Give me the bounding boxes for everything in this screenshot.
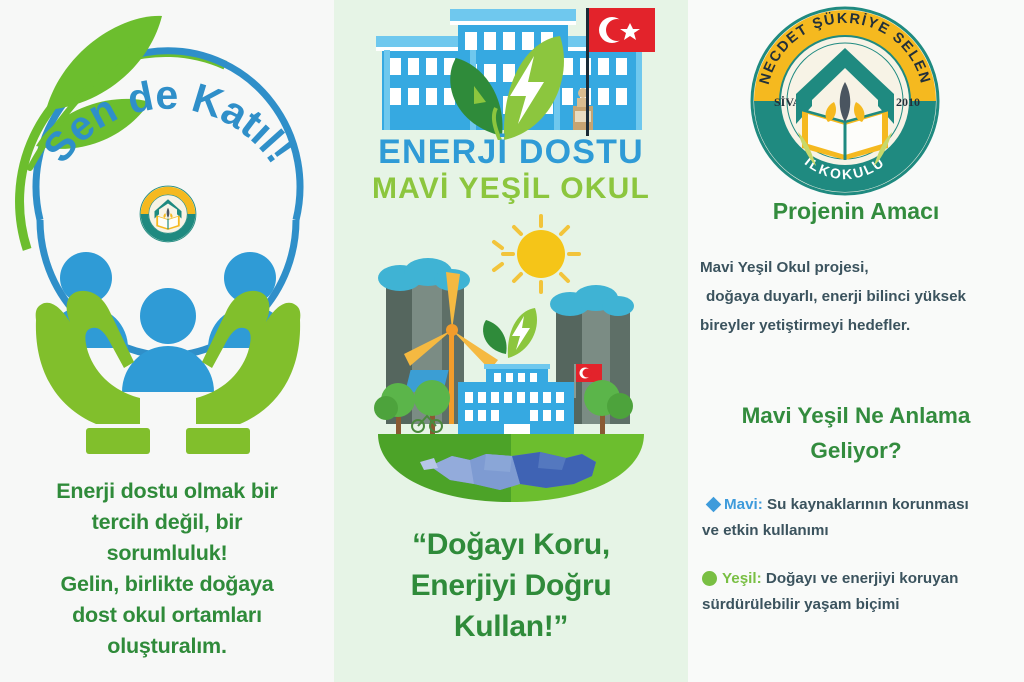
body-line: doğaya duyarlı, enerji bilinci yüksek <box>700 282 1018 311</box>
section-heading-line: Mavi Yeşil Ne Anlama <box>688 398 1024 433</box>
left-panel: Sen de Katıl! <box>0 0 334 682</box>
bullet-keyword: Yeşil <box>722 570 757 587</box>
brochure-page: Sen de Katıl! <box>0 0 1024 682</box>
bullet-text: Doğayı ve enerjiyi koruyan <box>762 570 959 587</box>
left-caption-line: dost okul ortamları <box>0 600 334 631</box>
left-caption: Enerji dostu olmak bir tercih değil, bir… <box>0 476 334 662</box>
left-caption-line: tercih değil, bir <box>0 507 334 538</box>
left-caption-line: sorumluluk! <box>0 538 334 569</box>
school-hero-illustration <box>334 0 688 136</box>
left-caption-line: oluşturalım. <box>0 631 334 662</box>
bullet-text: ve etkin kullanımı <box>702 518 1022 544</box>
bullet-keyword: Mavi <box>724 496 758 513</box>
school-crest-icon <box>140 186 196 242</box>
left-caption-line: Gelin, birlikte doğaya <box>0 569 334 600</box>
school-crest-icon: NECDET ŞÜKRİYE SELEN İLKOKULU SİVAS 2010 <box>688 0 1024 190</box>
section-heading-line: Geliyor? <box>688 433 1024 468</box>
sun-icon <box>494 216 579 292</box>
circle-bullet-icon <box>702 571 717 586</box>
diamond-bullet-icon <box>706 497 722 513</box>
leaf-lightning-icon <box>483 308 537 358</box>
body-line: bireyler yetiştirmeyi hedefler. <box>700 317 910 334</box>
right-panel: NECDET ŞÜKRİYE SELEN İLKOKULU SİVAS 2010 <box>688 0 1024 682</box>
middle-quote-line: “Doğayı Koru, <box>334 524 688 565</box>
bullet-text: Su kaynaklarının korunması <box>763 496 969 513</box>
middle-title: ENERJİ DOSTU <box>334 133 688 172</box>
list-item: Yeşil: Doğayı ve enerjiyi koruyan sürdür… <box>702 566 1022 618</box>
eco-city-illustration <box>334 212 688 502</box>
middle-subtitle: MAVİ YEŞİL OKUL <box>334 172 688 206</box>
middle-quote-line: Enerjiyi Doğru <box>334 565 688 606</box>
bullet-text: sürdürülebilir yaşam biçimi <box>702 592 1022 618</box>
page-title: Projenin Amacı <box>688 198 1024 225</box>
bullet-first-line: Yeşil: Doğayı ve enerjiyi koruyan <box>702 566 1022 592</box>
join-us-emblem: Sen de Katıl! <box>0 0 334 460</box>
section-heading: Mavi Yeşil Ne Anlama Geliyor? <box>688 398 1024 468</box>
bullet-first-line: Mavi: Su kaynaklarının korunması <box>702 492 1022 518</box>
body-line: Mavi Yeşil Okul projesi, <box>700 259 869 276</box>
middle-quote: “Doğayı Koru, Enerjiyi Doğru Kullan!” <box>334 524 688 647</box>
left-caption-line: Enerji dostu olmak bir <box>0 476 334 507</box>
meaning-bullet-list: Mavi: Su kaynaklarının korunması ve etki… <box>702 492 1022 640</box>
middle-quote-line: Kullan!” <box>334 606 688 647</box>
middle-panel: ENERJİ DOSTU MAVİ YEŞİL OKUL <box>334 0 688 682</box>
list-item: Mavi: Su kaynaklarının korunması ve etki… <box>702 492 1022 544</box>
crest-right-text: 2010 <box>896 95 920 109</box>
project-purpose-text: Mavi Yeşil Okul projesi, doğaya duyarlı,… <box>700 253 1018 340</box>
